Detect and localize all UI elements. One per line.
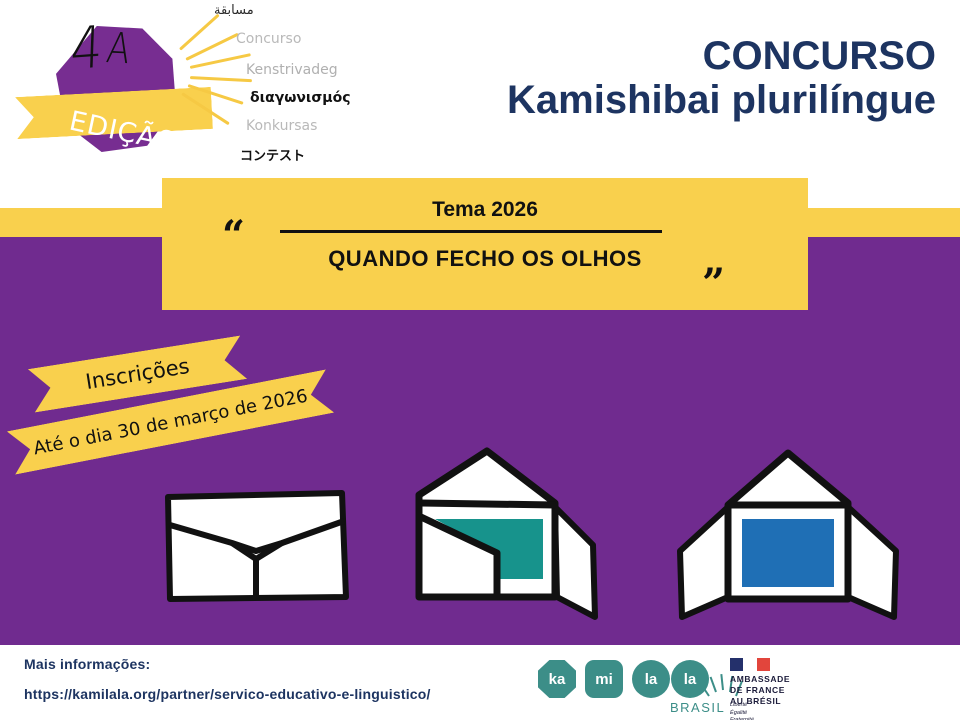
ray (710, 677, 717, 693)
kamishibai-open-illustration (672, 445, 902, 620)
flag-white-stripe (743, 658, 756, 671)
embassy-motto-line2: Égalité (730, 710, 754, 718)
footer-info-label: Mais informações: (24, 656, 431, 672)
kamishibai-closed-illustration (160, 485, 350, 605)
language-word-portuguese: Concurso (236, 31, 301, 47)
theme-box: Tema 2026 “ QUANDO FECHO OS OLHOS ” (162, 178, 808, 310)
kamilala-chip-la1: la (632, 660, 670, 698)
kamilala-chip-mi: mi (585, 660, 623, 698)
language-word-lithuanian: Konkursas (246, 118, 317, 134)
embassy-motto-line1: Liberté (730, 702, 754, 710)
kamishibai-half-open-illustration (405, 445, 605, 620)
edition-number: 4 (69, 15, 106, 84)
language-list: مسابقة Concurso Kenstrivadeg διαγωνισμός… (206, 0, 386, 175)
kamilala-chip-ka: ka (538, 660, 576, 698)
kamilala-country-label: BRASIL (670, 700, 725, 715)
embassy-name-line1: AMBASSADE (730, 674, 790, 685)
edition-letter: A (104, 24, 136, 74)
language-word-arabic: مسابقة (214, 3, 254, 18)
flag-red-stripe (757, 658, 770, 671)
embassy-name-line2: DE FRANCE (730, 685, 790, 696)
title-line-1: CONCURSO (507, 36, 936, 76)
language-word-greek: διαγωνισμός (250, 90, 351, 106)
kamilala-chip-la2: la (671, 660, 709, 698)
french-flag-icon (730, 658, 770, 671)
theme-heading: Tema 2026 (162, 198, 808, 222)
edition-number-handwritten: 4A (72, 26, 138, 72)
french-embassy-logo: AMBASSADE DE FRANCE AU BRÉSIL Liberté Ég… (726, 658, 836, 716)
footer-info: Mais informações: https://kamilala.org/p… (24, 656, 431, 702)
poster-title: CONCURSO Kamishibai plurilíngue (507, 36, 936, 123)
flag-blue-stripe (730, 658, 743, 671)
ray (720, 674, 724, 690)
title-line-2: Kamishibai plurilíngue (507, 78, 936, 123)
theme-divider (280, 230, 662, 233)
kamilala-logo[interactable]: ka mi la la BRASIL (538, 660, 718, 716)
embassy-motto: Liberté Égalité Fraternité (730, 702, 754, 720)
poster-root: 4A EDIÇÃO مسابقة Concurso Kenstrivadeg δ… (0, 0, 960, 720)
language-word-breton: Kenstrivadeg (246, 62, 338, 78)
quote-close-mark: ” (702, 264, 725, 304)
language-word-japanese: コンテスト (240, 145, 305, 164)
footer-url[interactable]: https://kamilala.org/partner/servico-edu… (24, 686, 431, 702)
